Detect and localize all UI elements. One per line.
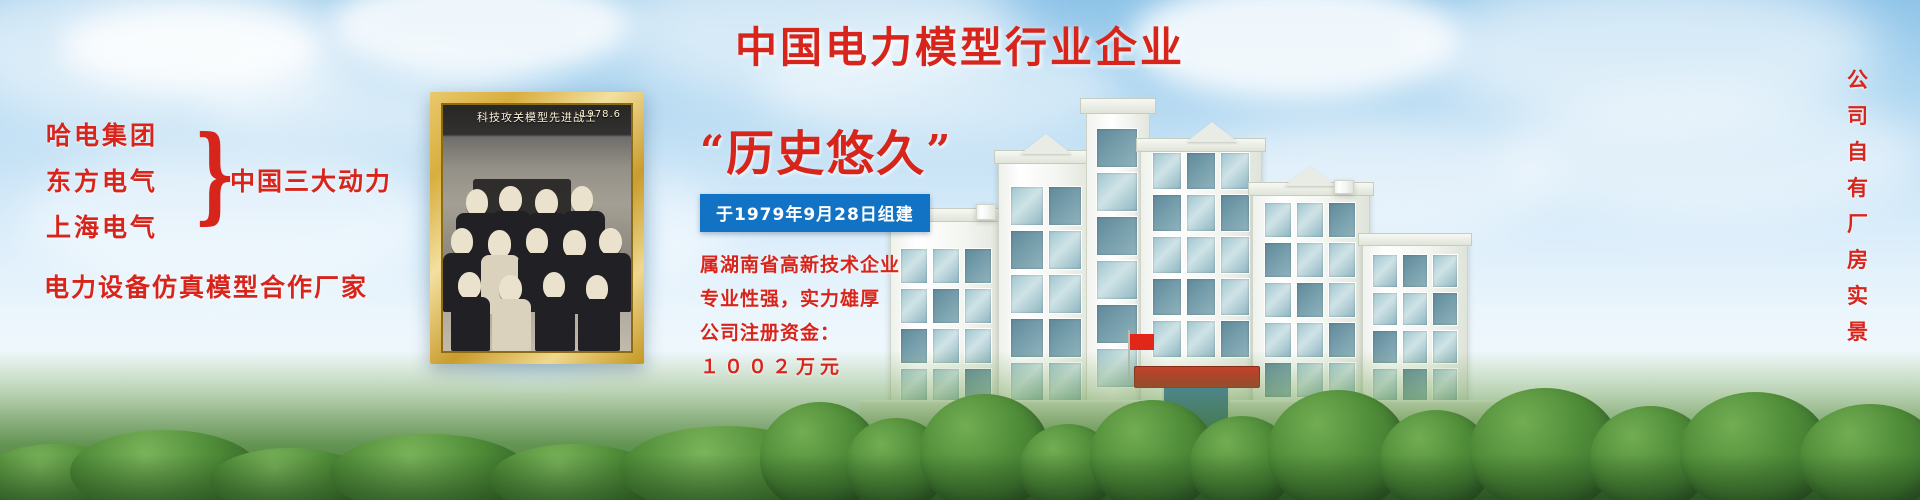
window <box>1048 230 1082 270</box>
photo-person-head <box>563 230 586 257</box>
quote-close: ” <box>926 126 952 175</box>
window <box>1096 172 1138 212</box>
window <box>1186 278 1216 316</box>
window <box>1328 282 1356 318</box>
window <box>1328 242 1356 278</box>
window <box>1296 242 1324 278</box>
company-name-1: 哈电集团 <box>46 116 158 152</box>
vertical-char: 自 <box>1847 134 1868 170</box>
photo-date: 1978.6 <box>580 109 621 120</box>
fact-line-3: 公司注册资金： <box>700 316 960 350</box>
vertical-char: 厂 <box>1847 206 1868 242</box>
window <box>1010 230 1044 270</box>
window <box>1220 236 1250 274</box>
photo-person-head <box>458 272 481 299</box>
banner-root: 中国电力模型行业企业 哈电集团 东方电气 上海电气 } 中国三大动力 电力设备仿… <box>0 0 1920 500</box>
vertical-char: 有 <box>1847 170 1868 206</box>
window <box>1010 274 1044 314</box>
three-powers-label: 中国三大动力 <box>230 162 392 198</box>
historic-photo: 科技攻关模型先进战士 1978.6 <box>443 105 631 351</box>
window <box>1096 216 1138 256</box>
fact-line-2: 专业性强，实力雄厚 <box>700 282 960 316</box>
window <box>1096 128 1138 168</box>
window <box>1296 282 1324 318</box>
photo-person-head <box>488 230 511 257</box>
photo-person-head <box>451 228 474 255</box>
window-grid <box>1152 152 1250 358</box>
window <box>1010 186 1044 226</box>
tree-line <box>0 380 1920 500</box>
vertical-char: 司 <box>1847 98 1868 134</box>
window <box>1402 292 1428 326</box>
vertical-char: 公 <box>1847 62 1868 98</box>
window <box>1296 202 1324 238</box>
window <box>1096 260 1138 300</box>
window <box>1186 236 1216 274</box>
window <box>1264 202 1292 238</box>
photo-person-head <box>586 275 609 302</box>
window <box>1432 254 1458 288</box>
photo-person-body <box>535 297 574 351</box>
window <box>1220 194 1250 232</box>
window <box>1372 292 1398 326</box>
photo-person-head <box>499 275 522 302</box>
photo-person-head <box>535 189 558 216</box>
fact-line-4: １００２万元 <box>700 350 960 384</box>
window <box>1328 202 1356 238</box>
window <box>1048 186 1082 226</box>
building-gable <box>1020 134 1072 154</box>
founding-date-ribbon: 于1979年9月28日组建 <box>700 194 930 232</box>
vertical-char: 实 <box>1847 278 1868 314</box>
roof-box <box>1334 180 1354 194</box>
building-gable <box>1284 166 1336 186</box>
window <box>1402 254 1428 288</box>
company-name-3: 上海电气 <box>46 208 158 244</box>
window <box>1152 152 1182 190</box>
building-roof-cap <box>1358 233 1472 246</box>
window <box>1152 278 1182 316</box>
window <box>1264 282 1292 318</box>
window <box>964 288 992 324</box>
window <box>964 248 992 284</box>
vertical-char: 景 <box>1847 314 1868 350</box>
window <box>1152 194 1182 232</box>
photo-person-head <box>571 186 594 213</box>
left-tagline: 电力设备仿真模型合作厂家 <box>44 268 368 304</box>
window <box>1220 152 1250 190</box>
photo-person-body <box>492 299 531 351</box>
vertical-caption: 公 司 自 有 厂 房 实 景 <box>1847 62 1868 350</box>
window <box>1048 274 1082 314</box>
slogan-text: 历史悠久 <box>726 126 926 182</box>
center-text-block: “历史悠久” 于1979年9月28日组建 属湖南省高新技术企业 专业性强，实力雄… <box>700 130 960 384</box>
window <box>1186 152 1216 190</box>
window <box>1432 292 1458 326</box>
photo-frame: 科技攻关模型先进战士 1978.6 <box>430 92 644 364</box>
left-text-block: 哈电集团 东方电气 上海电气 } 中国三大动力 电力设备仿真模型合作厂家 <box>42 108 402 243</box>
photo-frame-inner: 科技攻关模型先进战士 1978.6 <box>441 103 633 353</box>
flag <box>1130 334 1154 350</box>
photo-person-body <box>578 299 619 351</box>
three-powers-group: 哈电集团 东方电气 上海电气 } 中国三大动力 <box>42 108 402 243</box>
photo-person-head <box>526 228 549 255</box>
fact-line-1: 属湖南省高新技术企业 <box>700 248 960 282</box>
window <box>1220 278 1250 316</box>
building-gable <box>1186 122 1238 142</box>
company-name-2: 东方电气 <box>46 162 158 198</box>
window <box>1186 194 1216 232</box>
window <box>1264 242 1292 278</box>
building-roof-cap <box>1080 98 1156 114</box>
photo-person-body <box>451 297 490 351</box>
roof-box <box>976 204 996 220</box>
company-facts: 属湖南省高新技术企业 专业性强，实力雄厚 公司注册资金： １００２万元 <box>700 248 960 384</box>
window <box>1152 236 1182 274</box>
slogan-line: “历史悠久” <box>700 130 960 178</box>
vertical-char: 房 <box>1847 242 1868 278</box>
quote-open: “ <box>700 126 726 175</box>
window <box>1372 254 1398 288</box>
photo-person-head <box>499 186 522 213</box>
photo-person-head <box>543 272 566 299</box>
photo-person-head <box>599 228 622 255</box>
photo-person-head <box>466 189 489 216</box>
